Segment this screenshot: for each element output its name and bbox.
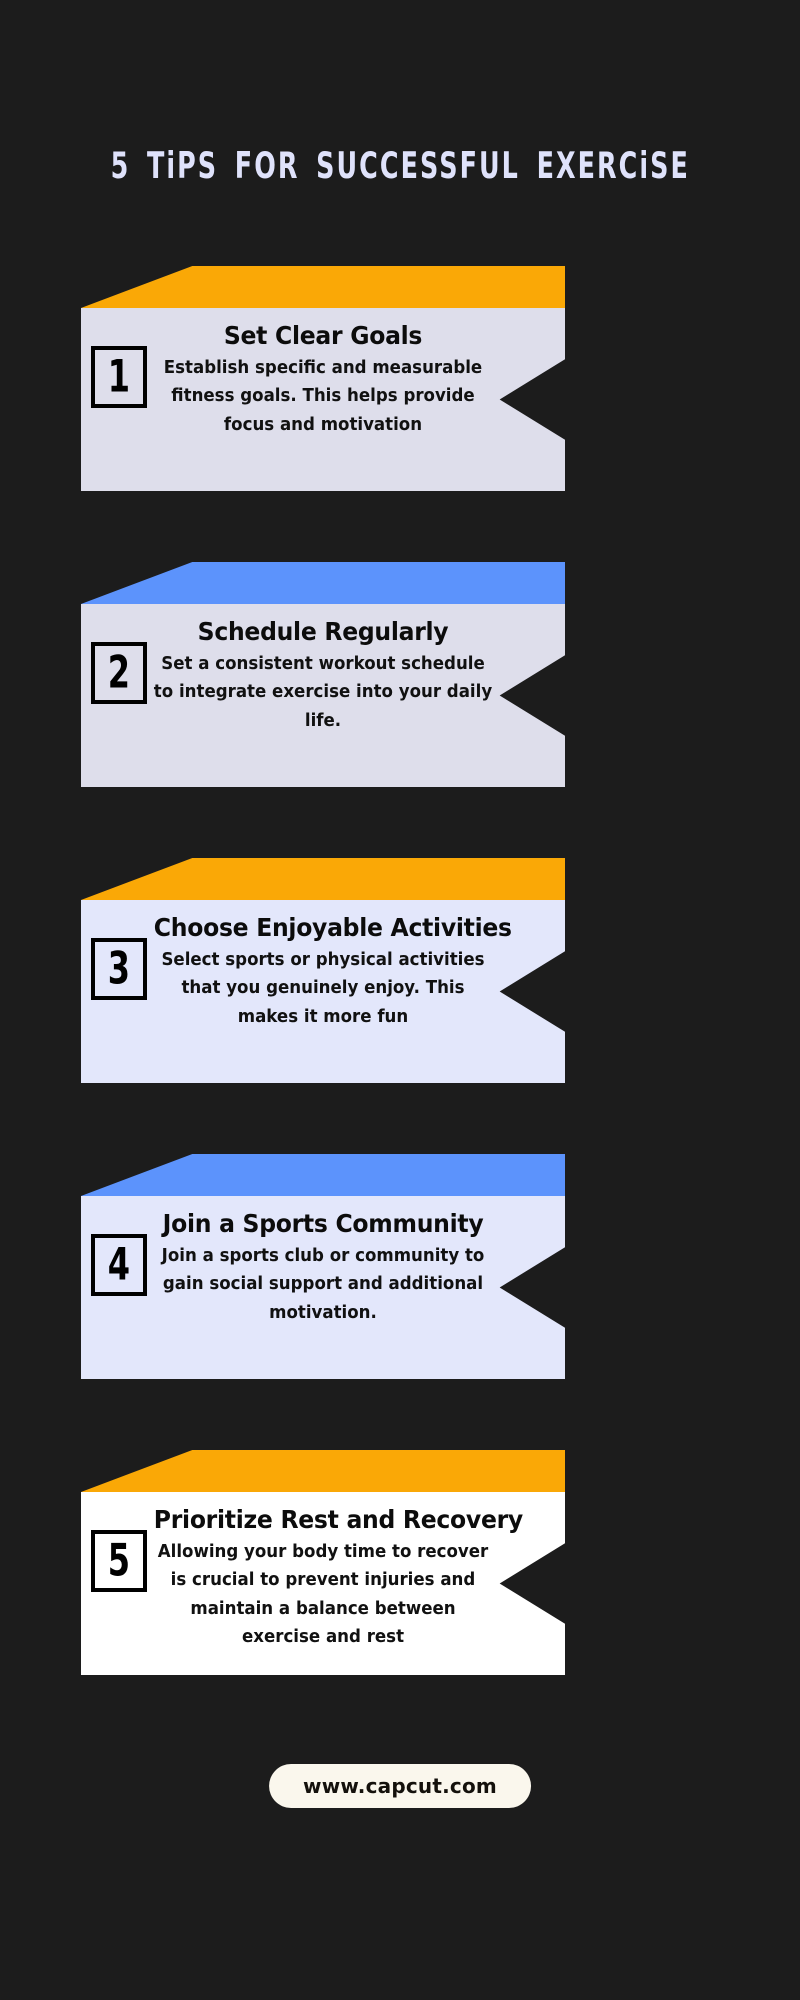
- banner-accent-line-5: [79, 1450, 81, 1492]
- tip-card-5: Prioritize Rest and Recovery Allowing yo…: [81, 1450, 565, 1675]
- card-number-badge-1: 1: [91, 346, 147, 408]
- card-number-4: 4: [108, 1243, 130, 1288]
- card-number-badge-4: 4: [91, 1234, 147, 1296]
- card-description-5: Allowing your body time to recover is cr…: [152, 1538, 494, 1651]
- tip-card-1: Set Clear Goals Establish specific and m…: [81, 266, 565, 491]
- tip-card-4: Join a Sports Community Join a sports cl…: [81, 1154, 565, 1379]
- card-body-5: Prioritize Rest and Recovery Allowing yo…: [81, 1492, 565, 1675]
- title-container: 5 TiPS FOR SUCCESSFUL EXERCiSE: [0, 148, 800, 184]
- card-number-badge-3: 3: [91, 938, 147, 1000]
- card-title-2: Schedule Regularly: [154, 618, 492, 646]
- card-banner-5: [81, 1450, 565, 1492]
- card-number-1: 1: [108, 355, 130, 400]
- card-banner-1: [81, 266, 565, 308]
- card-description-1: Establish specific and measurable fitnes…: [152, 354, 494, 439]
- banner-accent-line-4: [79, 1154, 81, 1196]
- card-number-badge-5: 5: [91, 1530, 147, 1592]
- card-number-2: 2: [108, 651, 130, 696]
- banner-accent-line-1: [79, 266, 81, 308]
- tip-card-3: Choose Enjoyable Activities Select sport…: [81, 858, 565, 1083]
- card-body-1: Set Clear Goals Establish specific and m…: [81, 308, 565, 491]
- infographic-page: { "page": { "background_color": "#1c1c1c…: [0, 0, 800, 2000]
- banner-accent-line-2: [79, 562, 81, 604]
- card-body-2: Schedule Regularly Set a consistent work…: [81, 604, 565, 787]
- card-number-badge-2: 2: [91, 642, 147, 704]
- card-title-1: Set Clear Goals: [154, 322, 492, 350]
- card-title-3: Choose Enjoyable Activities: [154, 914, 492, 942]
- card-description-3: Select sports or physical activities tha…: [152, 946, 494, 1031]
- card-body-4: Join a Sports Community Join a sports cl…: [81, 1196, 565, 1379]
- page-title: 5 TiPS FOR SUCCESSFUL EXERCiSE: [110, 145, 689, 187]
- tip-card-2: Schedule Regularly Set a consistent work…: [81, 562, 565, 787]
- card-title-4: Join a Sports Community: [154, 1210, 492, 1238]
- card-banner-3: [81, 858, 565, 900]
- card-banner-2: [81, 562, 565, 604]
- banner-accent-line-3: [79, 858, 81, 900]
- footer-url-pill[interactable]: www.capcut.com: [269, 1764, 531, 1808]
- card-number-3: 3: [108, 947, 130, 992]
- card-number-5: 5: [108, 1539, 130, 1584]
- card-description-2: Set a consistent workout schedule to int…: [152, 650, 494, 735]
- card-description-4: Join a sports club or community to gain …: [152, 1242, 494, 1327]
- card-body-3: Choose Enjoyable Activities Select sport…: [81, 900, 565, 1083]
- footer-url-label: www.capcut.com: [303, 1774, 497, 1798]
- card-title-5: Prioritize Rest and Recovery: [154, 1506, 492, 1534]
- card-banner-4: [81, 1154, 565, 1196]
